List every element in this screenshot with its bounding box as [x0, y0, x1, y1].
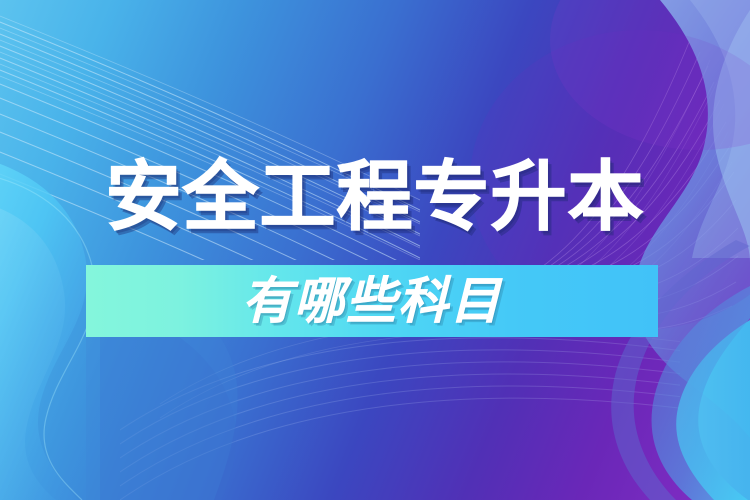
background-decoration [0, 0, 750, 500]
promotional-banner: 有哪些科目 安全工程专升本 [0, 0, 750, 500]
subtitle-bar: 有哪些科目 [86, 265, 658, 337]
page-title: 安全工程专升本 [106, 152, 645, 244]
subtitle-text: 有哪些科目 [86, 272, 658, 330]
title-container: 安全工程专升本 [0, 152, 750, 244]
